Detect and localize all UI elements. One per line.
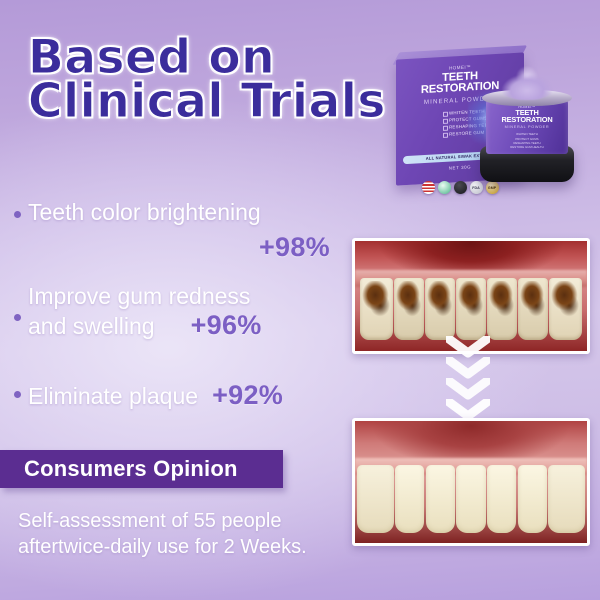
claim-text-line-2: and swelling [28, 314, 155, 340]
tooth [425, 278, 455, 340]
jar-feature-list: WHITEN TEETH PROTECT GUMS RESHAPING TEET… [492, 132, 562, 149]
jar-powder-mound [496, 64, 558, 100]
page-title: Based on Clinical Trials [28, 36, 428, 123]
tooth [548, 465, 584, 533]
tartar-stain [458, 281, 484, 320]
tooth [518, 465, 547, 533]
tooth [357, 465, 393, 533]
tooth [456, 278, 486, 340]
before-teeth-row [360, 278, 583, 340]
jar-body: HOMEI™ TEETH RESTORATION MINERAL POWDER … [486, 98, 568, 154]
methodology-note: Self-assessment of 55 people aftertwice-… [18, 508, 348, 561]
after-photo [352, 418, 590, 546]
tooth [549, 278, 582, 340]
tooth [426, 465, 455, 533]
tooth [487, 465, 516, 533]
fda-badge: FDA [470, 181, 483, 194]
after-mouth-image [355, 421, 587, 543]
note-line-2: aftertwice-daily use for 2 Weeks. [18, 534, 348, 560]
quality-seal-badge [438, 181, 451, 194]
tartar-stain [551, 281, 580, 320]
tooth [394, 278, 424, 340]
claim-item-brightening: Teeth color brightening +98% [10, 200, 358, 263]
chevron-down-icon [446, 336, 490, 358]
bullet-dot-icon [14, 391, 21, 398]
product-image: HOMEI™ TEETH RESTORATION MINERAL POWDER … [378, 48, 594, 200]
transition-arrows [446, 336, 492, 428]
claim-item-plaque: Eliminate plaque +92% [10, 380, 358, 411]
bullet-dot-icon [14, 211, 21, 218]
claim-percent: +96% [191, 310, 262, 341]
tartar-stain [396, 281, 422, 320]
tooth [395, 465, 424, 533]
tooth [518, 278, 548, 340]
consumers-opinion-label: Consumers Opinion [0, 456, 238, 482]
tooth [456, 465, 485, 533]
claim-text-line-1: Improve gum redness [28, 284, 358, 310]
consumers-opinion-banner: Consumers Opinion [0, 450, 283, 488]
chevron-down-icon [446, 378, 490, 400]
us-flag-badge [422, 181, 435, 194]
gmp-gold-badge: GMP [486, 181, 499, 194]
note-line-1: Self-assessment of 55 people [18, 510, 282, 532]
vegan-shield-badge [454, 181, 467, 194]
tartar-stain [427, 281, 453, 320]
claim-percent: +98% [28, 232, 358, 263]
product-jar: HOMEI™ TEETH RESTORATION MINERAL POWDER … [478, 70, 576, 182]
claim-text: Teeth color brightening [28, 199, 261, 225]
jar-subtitle: MINERAL POWDER [492, 125, 562, 129]
headline-line-2: Clinical Trials [28, 80, 428, 124]
tooth [487, 278, 517, 340]
claim-percent: +92% [212, 380, 283, 411]
tartar-stain [520, 281, 546, 320]
claim-item-gum-redness: Improve gum redness and swelling +96% [10, 284, 358, 341]
certification-badges: FDA GMP [400, 181, 520, 194]
after-teeth-row [357, 465, 584, 533]
tartar-stain [362, 281, 391, 320]
poster-root: Based on Clinical Trials HOMEI™ TEETH RE… [0, 0, 600, 600]
claim-second-row: and swelling +96% [28, 310, 358, 341]
claim-text: Eliminate plaque [28, 384, 198, 410]
jar-title: TEETH RESTORATION [492, 109, 562, 124]
jar-feature-item: RESTORE GUM HEALTH [492, 145, 562, 149]
claim-row: Eliminate plaque +92% [28, 380, 358, 411]
bullet-dot-icon [14, 314, 21, 321]
chevron-down-icon [446, 357, 490, 379]
tartar-stain [489, 281, 515, 320]
before-mouth-image [355, 241, 587, 351]
tooth [360, 278, 393, 340]
